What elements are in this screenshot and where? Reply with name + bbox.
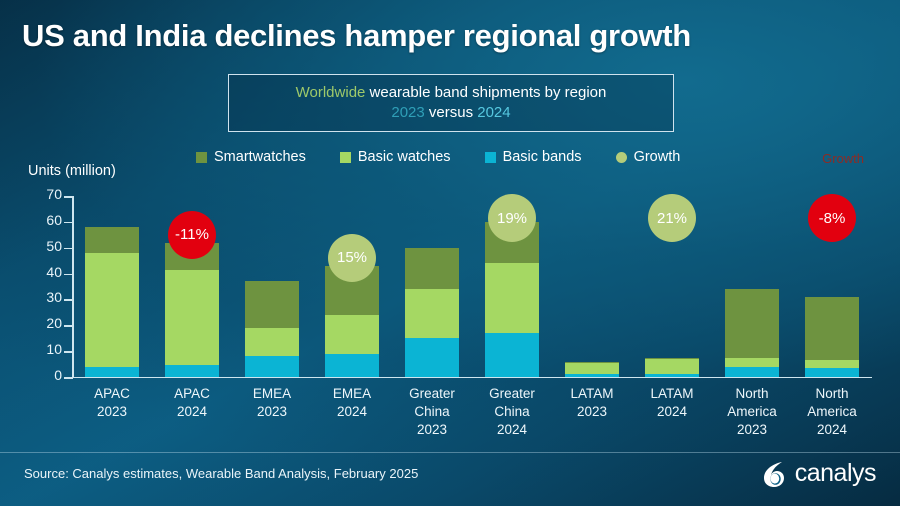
bar-segment-basic-bands	[485, 333, 539, 377]
bar-apac-2023[interactable]	[85, 227, 139, 377]
growth-bubble-emea-2024[interactable]: 15%	[328, 234, 376, 282]
bar-segment-basic-watches	[805, 360, 859, 368]
bar-segment-basic-watches	[85, 253, 139, 367]
square-swatch	[340, 152, 351, 163]
x-axis-label: NorthAmerica2024	[787, 385, 877, 439]
x-axis-label-line: 2023	[707, 421, 797, 439]
legend-label: Smartwatches	[214, 149, 306, 165]
x-axis-label-line: Greater	[467, 385, 557, 403]
x-axis-label-line: North	[707, 385, 797, 403]
x-axis-label-line: EMEA	[227, 385, 317, 403]
x-axis-label: APAC2024	[147, 385, 237, 421]
x-axis-label-line: America	[707, 403, 797, 421]
bar-segment-basic-bands	[725, 367, 779, 377]
source-note: Source: Canalys estimates, Wearable Band…	[24, 466, 418, 481]
x-axis-label: LATAM2024	[627, 385, 717, 421]
y-tick-label: 40	[0, 264, 62, 280]
bar-latam-2023[interactable]	[565, 362, 619, 377]
y-tick-label: 0	[0, 367, 62, 383]
subtitle-year-2023: 2023	[391, 104, 424, 121]
y-tick	[64, 377, 73, 379]
legend-item-smartwatches[interactable]: Smartwatches	[196, 149, 306, 165]
y-tick	[64, 222, 73, 224]
x-axis-label: EMEA2024	[307, 385, 397, 421]
x-axis-label: GreaterChina2024	[467, 385, 557, 439]
bar-segment-basic-bands	[245, 356, 299, 377]
bar-north-america-2024[interactable]	[805, 297, 859, 377]
x-axis-label-line: 2023	[547, 403, 637, 421]
x-axis-label-line: 2024	[787, 421, 877, 439]
subtitle-year-2024: 2024	[477, 104, 510, 121]
y-tick-label: 50	[0, 238, 62, 254]
growth-bubble-greater-china-2024[interactable]: 19%	[488, 194, 536, 242]
bar-segment-basic-bands	[85, 367, 139, 377]
bar-greater-china-2023[interactable]	[405, 248, 459, 377]
x-axis-label-line: America	[787, 403, 877, 421]
y-tick	[64, 274, 73, 276]
legend-item-basic-bands[interactable]: Basic bands	[485, 149, 582, 165]
bar-segment-smartwatches	[85, 227, 139, 253]
bar-segment-basic-bands	[565, 374, 619, 377]
x-axis-label-line: China	[467, 403, 557, 421]
bar-emea-2023[interactable]	[245, 281, 299, 377]
bar-segment-basic-bands	[645, 374, 699, 377]
legend-label: Growth	[634, 149, 681, 165]
square-swatch	[485, 152, 496, 163]
y-tick	[64, 299, 73, 301]
bar-segment-basic-watches	[405, 289, 459, 338]
x-axis-label: GreaterChina2023	[387, 385, 477, 439]
y-tick	[64, 325, 73, 327]
bar-segment-basic-watches	[325, 315, 379, 354]
y-tick-label: 20	[0, 315, 62, 331]
legend-label: Basic watches	[358, 149, 451, 165]
legend-item-basic-watches[interactable]: Basic watches	[340, 149, 451, 165]
x-axis-label-line: 2023	[67, 403, 157, 421]
bar-latam-2024[interactable]	[645, 358, 699, 377]
bar-segment-basic-bands	[165, 365, 219, 377]
bar-segment-basic-watches	[485, 263, 539, 333]
bar-greater-china-2024[interactable]	[485, 222, 539, 377]
bar-segment-basic-watches	[245, 328, 299, 356]
subtitle-rest: wearable band shipments by region	[365, 84, 606, 101]
canalys-mark-icon	[762, 460, 788, 488]
footer-divider	[0, 452, 900, 453]
growth-bubble-latam-2024[interactable]: 21%	[648, 194, 696, 242]
subtitle-line-2: 2023 versus 2024	[391, 103, 510, 123]
bar-segment-basic-watches	[565, 363, 619, 375]
x-axis-label: NorthAmerica2023	[707, 385, 797, 439]
bar-segment-basic-watches	[645, 359, 699, 374]
bar-apac-2024[interactable]	[165, 243, 219, 377]
x-axis-label: LATAM2023	[547, 385, 637, 421]
bar-segment-basic-watches	[725, 358, 779, 367]
bar-emea-2024[interactable]	[325, 266, 379, 377]
x-axis-label-line: 2024	[627, 403, 717, 421]
page-title: US and India declines hamper regional gr…	[22, 18, 691, 54]
bar-segment-smartwatches	[805, 297, 859, 360]
x-axis-label-line: China	[387, 403, 477, 421]
chart-legend: SmartwatchesBasic watchesBasic bandsGrow…	[196, 149, 680, 165]
y-axis-title: Units (million)	[28, 163, 116, 179]
legend-item-growth[interactable]: Growth	[616, 149, 681, 165]
subtitle-box: Worldwide wearable band shipments by reg…	[228, 74, 674, 132]
logo-wordmark: canalys	[795, 459, 876, 488]
x-axis-label-line: North	[787, 385, 877, 403]
subtitle-versus: versus	[425, 104, 478, 121]
bar-segment-smartwatches	[245, 281, 299, 328]
bar-segment-basic-bands	[805, 368, 859, 377]
x-axis-label-line: 2024	[307, 403, 397, 421]
bar-segment-basic-bands	[405, 338, 459, 377]
growth-bubble-north-america-2024[interactable]: -8%	[808, 194, 856, 242]
y-tick	[64, 196, 73, 198]
y-tick	[64, 351, 73, 353]
subtitle-worldwide: Worldwide	[296, 84, 366, 101]
circle-swatch	[616, 152, 627, 163]
x-axis-label-line: APAC	[67, 385, 157, 403]
x-axis-label: EMEA2023	[227, 385, 317, 421]
legend-label: Basic bands	[503, 149, 582, 165]
x-axis-label-line: 2023	[387, 421, 477, 439]
x-axis-label: APAC2023	[67, 385, 157, 421]
x-axis-label-line: EMEA	[307, 385, 397, 403]
subtitle-line-1: Worldwide wearable band shipments by reg…	[296, 83, 607, 103]
x-axis-label-line: 2023	[227, 403, 317, 421]
bar-segment-smartwatches	[725, 289, 779, 358]
bar-north-america-2023[interactable]	[725, 289, 779, 377]
x-axis-label-line: APAC	[147, 385, 237, 403]
x-axis-label-line: LATAM	[547, 385, 637, 403]
growth-corner-label: Growth	[822, 151, 864, 166]
x-axis-label-line: 2024	[147, 403, 237, 421]
bar-segment-basic-watches	[165, 270, 219, 366]
canalys-logo: canalys	[762, 459, 876, 488]
bar-segment-smartwatches	[405, 248, 459, 289]
bar-segment-basic-bands	[325, 354, 379, 377]
x-axis-label-line: 2024	[467, 421, 557, 439]
slide-canvas: US and India declines hamper regional gr…	[0, 0, 900, 506]
y-tick-label: 70	[0, 186, 62, 202]
x-axis-label-line: LATAM	[627, 385, 717, 403]
square-swatch	[196, 152, 207, 163]
x-axis-label-line: Greater	[387, 385, 477, 403]
y-tick	[64, 248, 73, 250]
growth-bubble-apac-2024[interactable]: -11%	[168, 211, 216, 259]
y-tick-label: 10	[0, 341, 62, 357]
y-tick-label: 60	[0, 212, 62, 228]
y-tick-label: 30	[0, 289, 62, 305]
